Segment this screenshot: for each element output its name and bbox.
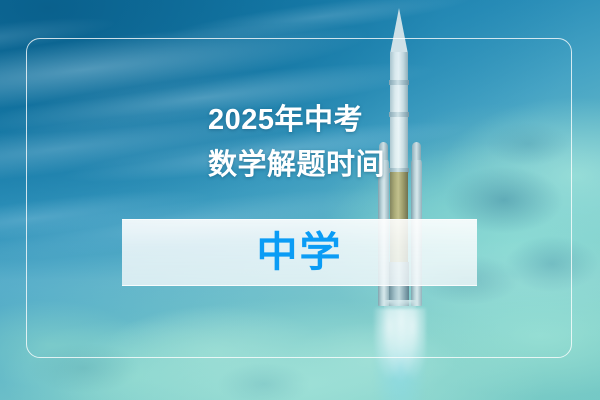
background-haze-band	[0, 0, 600, 400]
background-exhaust-smoke	[0, 0, 600, 400]
category-band[interactable]: 中学	[122, 219, 477, 286]
headline-line-2: 数学解题时间	[208, 143, 538, 188]
article-cover-card: 2025年中考 数学解题时间 中学	[0, 0, 600, 400]
background-sky	[0, 0, 600, 400]
rocket-ring-upper	[389, 80, 409, 85]
category-band-label: 中学	[257, 232, 343, 273]
rocket-nose-cone	[390, 8, 408, 54]
background-cirrus-clouds	[0, 0, 600, 400]
headline-line-1: 2025年中考	[208, 98, 538, 143]
cover-headline: 2025年中考 数学解题时间	[208, 98, 538, 188]
background-color-tint	[0, 0, 600, 400]
decorative-frame-border	[26, 38, 572, 358]
background-sky-shading	[0, 0, 600, 400]
rocket-exhaust-plume	[374, 308, 426, 400]
background-smoke-shading	[0, 0, 600, 400]
